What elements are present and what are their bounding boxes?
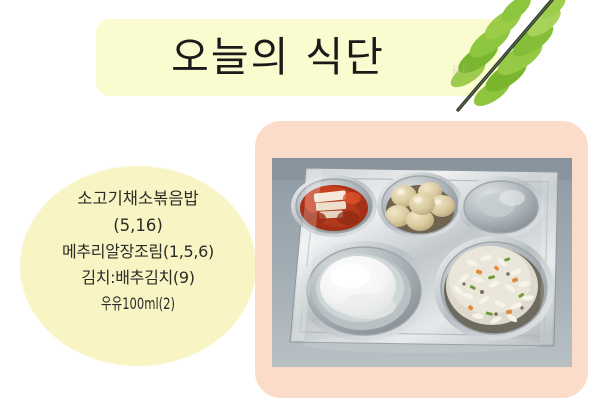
menu-line: (5,16) bbox=[14, 213, 262, 240]
menu-line: 김치:배추김치(9) bbox=[14, 265, 262, 291]
menu-line: 메추리알장조림(1,5,6) bbox=[14, 239, 262, 265]
lunch-tray-photo bbox=[272, 158, 572, 367]
page-title: 오늘의 식단 bbox=[96, 19, 500, 96]
watermark-text: RF bbox=[452, 62, 470, 78]
menu-line: 소고기채소볶음밥 bbox=[14, 186, 262, 213]
menu-line: 우유100ml(2) bbox=[49, 291, 228, 317]
menu-text-block: 소고기채소볶음밥 (5,16) 메추리알장조림(1,5,6) 김치:배추김치(9… bbox=[14, 186, 262, 317]
slide-canvas: 오늘의 식단 RF 소고기채소볶음밥 (5,16) 메추리알장조림(1,5,6) bbox=[0, 0, 600, 410]
